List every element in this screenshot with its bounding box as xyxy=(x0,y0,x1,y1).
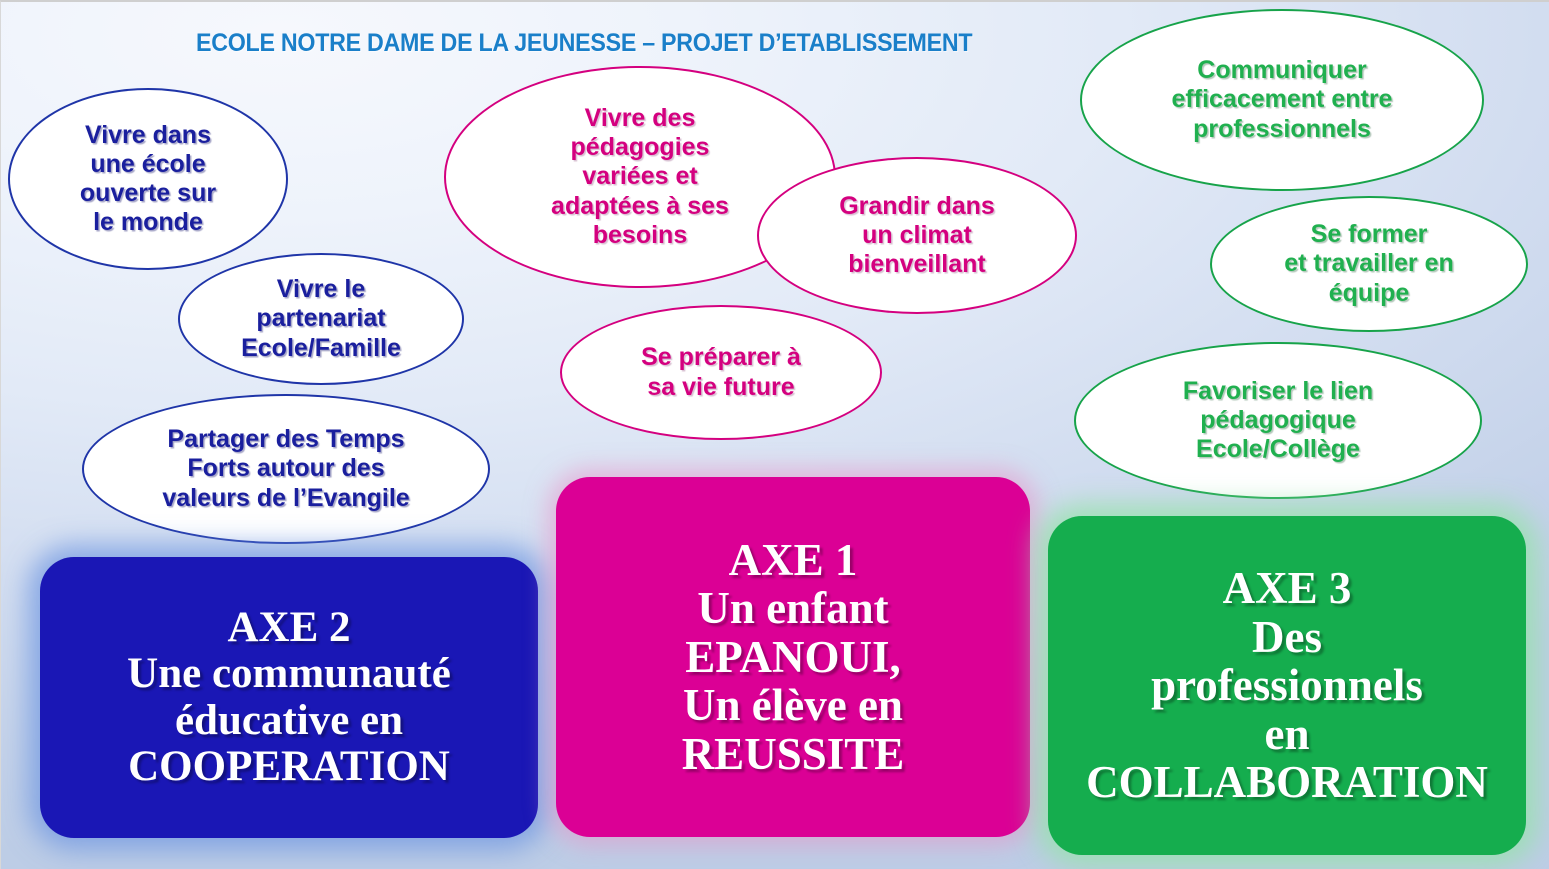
bubble-vie-future[interactable]: Se préparer à sa vie future xyxy=(560,305,882,440)
bubble-pedagogies-label: Vivre des pédagogies variées et adaptées… xyxy=(543,104,737,250)
bubble-ecole-ouverte[interactable]: Vivre dans une école ouverte sur le mond… xyxy=(8,88,288,270)
bubble-climat[interactable]: Grandir dans un climat bienveillant xyxy=(757,157,1077,314)
bubble-communiquer-label: Communiquer efficacement entre professio… xyxy=(1164,56,1401,144)
axe-3-box[interactable]: AXE 3 Des professionnels en COLLABORATIO… xyxy=(1048,516,1526,855)
axe-2-box[interactable]: AXE 2 Une communauté éducative en COOPER… xyxy=(40,557,538,838)
bubble-temps-forts-label: Partager des Temps Forts autour des vale… xyxy=(154,425,417,513)
bubble-lien-college[interactable]: Favoriser le lien pédagogique Ecole/Coll… xyxy=(1074,342,1482,499)
bubble-temps-forts[interactable]: Partager des Temps Forts autour des vale… xyxy=(82,394,490,544)
bubble-lien-college-label: Favoriser le lien pédagogique Ecole/Coll… xyxy=(1175,377,1381,465)
page-title: ECOLE NOTRE DAME DE LA JEUNESSE – PROJET… xyxy=(196,29,1024,58)
bubble-se-former-label: Se former et travailler en équipe xyxy=(1276,220,1462,308)
slide-canvas: ECOLE NOTRE DAME DE LA JEUNESSE – PROJET… xyxy=(0,0,1549,869)
bubble-se-former[interactable]: Se former et travailler en équipe xyxy=(1210,196,1528,332)
bubble-partenariat[interactable]: Vivre le partenariat Ecole/Famille xyxy=(178,253,464,385)
axe-1-label: AXE 1 Un enfant EPANOUI, Un élève en REU… xyxy=(682,536,905,779)
bubble-partenariat-label: Vivre le partenariat Ecole/Famille xyxy=(233,275,409,363)
bubble-vie-future-label: Se préparer à sa vie future xyxy=(633,343,809,402)
bubble-climat-label: Grandir dans un climat bienveillant xyxy=(831,192,1003,280)
bubble-ecole-ouverte-label: Vivre dans une école ouverte sur le mond… xyxy=(72,121,224,238)
bubble-communiquer[interactable]: Communiquer efficacement entre professio… xyxy=(1080,9,1484,191)
axe-3-label: AXE 3 Des professionnels en COLLABORATIO… xyxy=(1086,564,1488,807)
axe-2-label: AXE 2 Une communauté éducative en COOPER… xyxy=(127,605,451,791)
axe-1-box[interactable]: AXE 1 Un enfant EPANOUI, Un élève en REU… xyxy=(556,477,1030,837)
